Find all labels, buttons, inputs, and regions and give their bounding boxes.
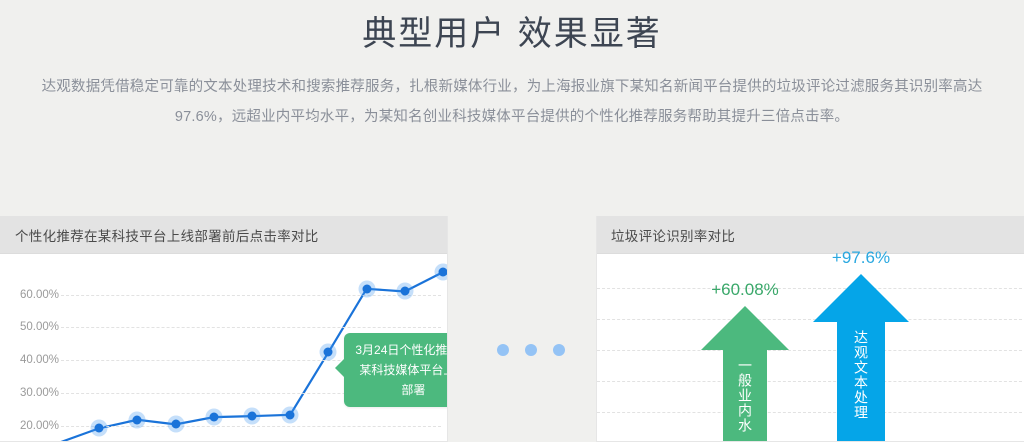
annotation-line-1: 3月24日个性化推荐在 [354,340,448,360]
gridline [597,381,1024,382]
data-point[interactable] [286,410,295,419]
data-point[interactable] [400,287,409,296]
arrow-bar-industry-average: +60.08% 一般业内水 [701,306,789,442]
gridline [61,295,441,296]
data-point[interactable] [324,348,333,357]
arrow-value-label-industry-average: +60.08% [711,280,779,300]
page-root: 典型用户 效果显著 达观数据凭借稳定可靠的文本处理技术和搜索推荐服务，扎根新媒体… [0,0,1024,442]
gridline [597,350,1024,351]
y-tick-label: 30.00% [20,387,59,399]
y-tick-label: 60.00% [20,289,59,301]
left-panel-title: 个性化推荐在某科技平台上线部署前后点击率对比 [15,225,319,245]
y-tick-label: 40.00% [20,354,59,366]
carousel-indicator[interactable] [497,344,565,356]
carousel-dot[interactable] [553,344,565,356]
chart-annotation-callout: 3月24日个性化推荐在 某科技媒体平台上线部署 [344,333,448,407]
right-chart-panel: 垃圾评论识别率对比 +60.08% 一般业内水 +97.6% [596,216,1024,442]
gridline [597,412,1024,413]
left-panel-header: 个性化推荐在某科技平台上线部署前后点击率对比 [0,216,447,254]
arrow-caption-industry-average: 一般业内水 [738,358,752,433]
gridline [597,288,1024,289]
data-point[interactable] [209,413,218,422]
gridline [597,319,1024,320]
arrow-caption-datagrand: 达观文本处理 [854,330,868,420]
left-panel-body: 20.00%30.00%40.00%50.00%60.00% 3月24日个性化推… [0,254,447,442]
data-point[interactable] [133,415,142,424]
panels-container: 个性化推荐在某科技平台上线部署前后点击率对比 20.00%30.00%40.00… [0,216,1024,442]
left-chart-y-axis: 20.00%30.00%40.00%50.00%60.00% [0,254,59,442]
carousel-dot[interactable] [525,344,537,356]
arrow-value-label-datagrand: +97.6% [832,248,890,268]
y-tick-label: 50.00% [20,321,59,333]
data-point[interactable] [248,412,257,421]
annotation-line-2: 某科技媒体平台上线部署 [354,360,448,400]
data-point[interactable] [439,268,448,277]
y-tick-label: 20.00% [20,420,59,432]
carousel-dot[interactable] [497,344,509,356]
data-point[interactable] [362,284,371,293]
data-point[interactable] [95,424,104,433]
gridline [61,426,441,427]
right-panel-title: 垃圾评论识别率对比 [611,225,735,245]
data-point[interactable] [171,420,180,429]
left-chart-panel: 个性化推荐在某科技平台上线部署前后点击率对比 20.00%30.00%40.00… [0,216,448,442]
gridline [61,327,441,328]
arrow-bar-datagrand: +97.6% 达观文本处理 [813,274,909,442]
page-description: 达观数据凭借稳定可靠的文本处理技术和搜索推荐服务，扎根新媒体行业，为上海报业旗下… [32,72,992,132]
right-panel-body: +60.08% 一般业内水 +97.6% 达观文本处理 [597,254,1024,442]
right-panel-header: 垃圾评论识别率对比 [597,216,1024,254]
right-chart-gridlines [597,254,1024,442]
page-title: 典型用户 效果显著 [0,0,1024,58]
